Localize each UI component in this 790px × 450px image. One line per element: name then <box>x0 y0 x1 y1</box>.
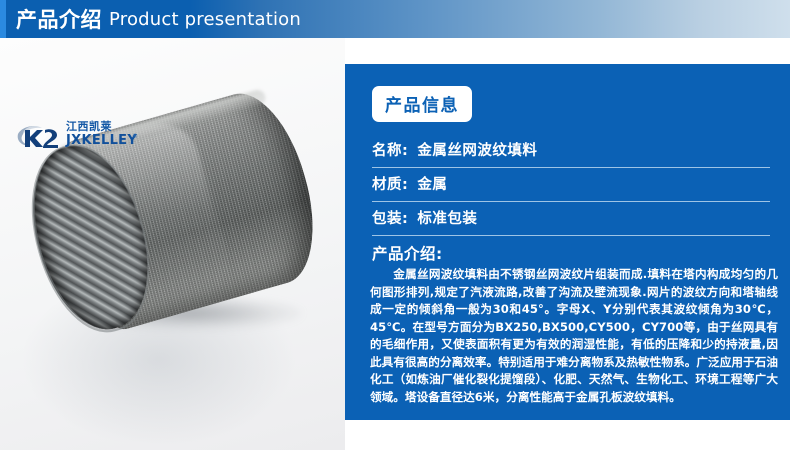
spec-row-material: 材质: 金属 <box>372 168 770 202</box>
product-spec-list: 名称: 金属丝网波纹填料 材质: 金属 包装: 标准包装 <box>372 134 770 236</box>
spec-value: 金属 <box>417 177 447 193</box>
product-info-badge: 产品信息 <box>372 86 472 122</box>
page-header-banner: 产品介绍 Product presentation <box>0 0 790 38</box>
registered-trademark-icon: ® <box>132 133 138 140</box>
description-body: 金属丝网波纹填料由不锈钢丝网波纹片组装而成.填料在塔内构成均匀的几何图形排列,规… <box>370 266 778 406</box>
brand-name-cn: 江西凯莱 <box>66 120 138 133</box>
header-accent-bar <box>0 0 6 38</box>
spec-label: 材质: <box>372 177 408 193</box>
spec-label: 名称: <box>372 143 408 159</box>
product-photo: 江西凯莱 JXKELLEY ® <box>0 38 345 450</box>
spec-label: 包装: <box>372 211 408 227</box>
page-title: 产品介绍 Product presentation <box>16 0 301 38</box>
spec-value: 金属丝网波纹填料 <box>417 143 537 159</box>
spec-row-name: 名称: 金属丝网波纹填料 <box>372 134 770 168</box>
brand-logo-text: 江西凯莱 JXKELLEY <box>66 120 138 148</box>
brand-name-en: JXKELLEY <box>66 133 138 148</box>
spec-value: 标准包装 <box>417 211 477 227</box>
description-heading: 产品介绍: <box>372 242 443 264</box>
page-title-cn: 产品介绍 <box>16 4 102 34</box>
brand-logo: 江西凯莱 JXKELLEY ® <box>16 120 136 154</box>
product-info-panel: 产品信息 名称: 金属丝网波纹填料 材质: 金属 包装: 标准包装 产品介绍: … <box>345 64 790 420</box>
page-title-en: Product presentation <box>109 9 301 30</box>
spec-row-packaging: 包装: 标准包装 <box>372 202 770 236</box>
k2-logo-mark-icon <box>16 123 64 151</box>
